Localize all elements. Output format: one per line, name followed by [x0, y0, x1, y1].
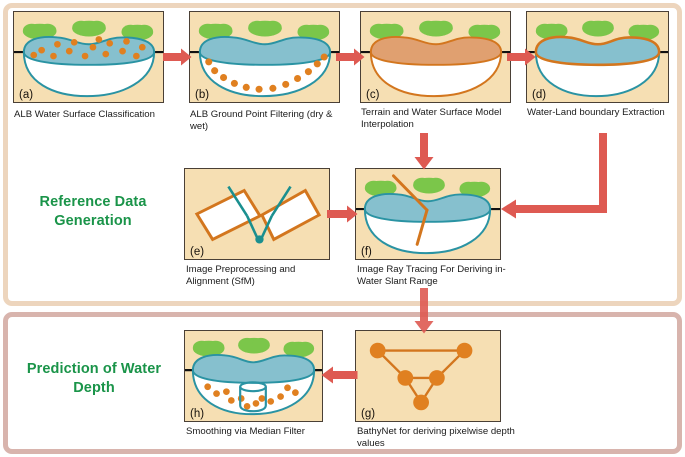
panel-a-tag: (a) — [19, 89, 33, 101]
panel-d-tag: (d) — [532, 89, 546, 101]
arrow-c-to-d — [507, 48, 536, 66]
panel-h-tag: (h) — [190, 408, 204, 420]
panel-a-caption: ALB Water Surface Classification — [14, 109, 174, 121]
panel-g-bathynet-pixelwise-depth[interactable]: (g) — [355, 330, 501, 422]
panel-b-illustration — [190, 12, 339, 102]
panel-b-caption: ALB Ground Point Filtering (dry & wet) — [190, 109, 340, 132]
panel-d-water-land-boundary-extraction[interactable]: (d) — [526, 11, 669, 103]
panel-c-terrain-water-surface-model-interpolation[interactable]: (c) — [360, 11, 511, 103]
arrow-e-to-f — [327, 205, 358, 223]
panel-e-illustration — [185, 169, 329, 259]
arrow-a-to-b — [163, 48, 192, 66]
panel-e-caption: Image Preprocessing and Alignment (SfM) — [186, 264, 336, 287]
arrow-c-to-f — [414, 133, 434, 170]
panel-f-illustration — [356, 169, 500, 259]
panel-a-alb-water-surface-classification[interactable]: (a) — [13, 11, 164, 103]
panel-d-caption: Water-Land boundary Extraction — [527, 107, 677, 119]
panel-a-illustration — [14, 12, 163, 102]
panel-c-illustration — [361, 12, 510, 102]
panel-d-illustration — [527, 12, 668, 102]
arrow-g-to-h — [321, 366, 358, 384]
arrow-f-to-g — [414, 288, 434, 334]
panel-g-illustration — [356, 331, 500, 421]
stage-label-reference-data-generation: Reference Data Generation — [18, 193, 168, 231]
panel-f-image-ray-tracing-slant-range[interactable]: (f) — [355, 168, 501, 260]
arrow-d-to-f — [500, 133, 616, 219]
panel-b-tag: (b) — [195, 89, 209, 101]
panel-g-tag: (g) — [361, 408, 375, 420]
panel-h-caption: Smoothing via Median Filter — [186, 426, 346, 438]
panel-e-tag: (e) — [190, 246, 204, 258]
panel-h-illustration — [185, 331, 322, 421]
stage-label-prediction-of-water-depth: Prediction of Water Depth — [14, 360, 174, 398]
panel-c-tag: (c) — [366, 89, 379, 101]
panel-e-image-preprocessing-alignment-sfm[interactable]: (e) — [184, 168, 330, 260]
panel-f-tag: (f) — [361, 246, 372, 258]
panel-b-alb-ground-point-filtering[interactable]: (b) — [189, 11, 340, 103]
panel-h-smoothing-median-filter[interactable]: (h) — [184, 330, 323, 422]
arrow-b-to-c — [336, 48, 365, 66]
panel-f-caption: Image Ray Tracing For Deriving in-Water … — [357, 264, 522, 287]
panel-c-caption: Terrain and Water Surface Model Interpol… — [361, 107, 516, 130]
panel-g-caption: BathyNet for deriving pixelwise depth va… — [357, 426, 527, 449]
figure-canvas: Reference Data Generation Prediction of … — [0, 0, 685, 457]
sfm-tie-point — [255, 235, 263, 243]
